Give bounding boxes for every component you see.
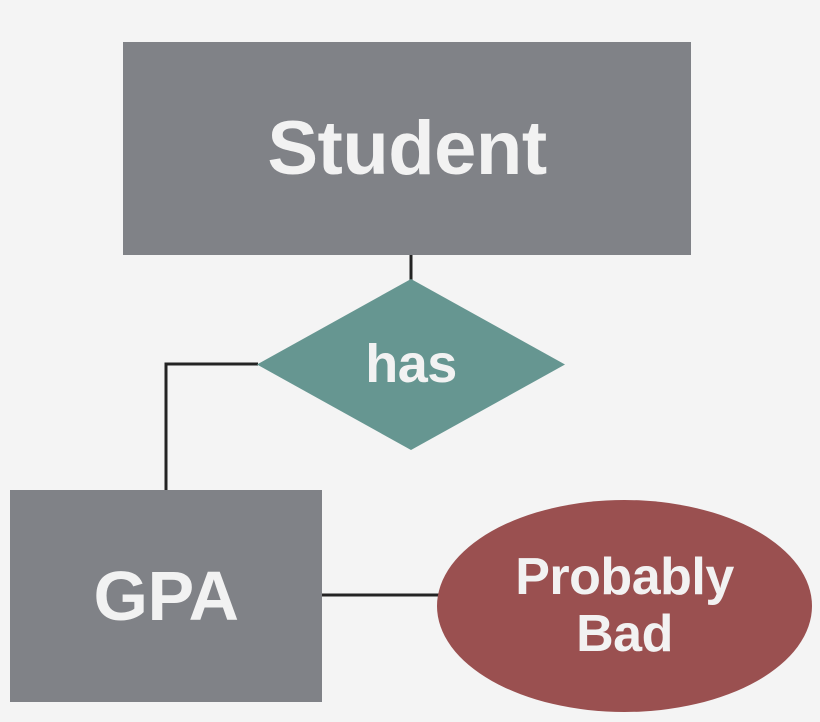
er-diagram-canvas: Student has GPA Probably Bad xyxy=(0,0,820,722)
relationship-has-shape[interactable] xyxy=(257,279,565,450)
shape-layer xyxy=(10,42,812,712)
entity-gpa-shape[interactable] xyxy=(10,490,322,702)
er-diagram-svg xyxy=(0,0,820,722)
entity-student-shape[interactable] xyxy=(123,42,691,255)
connector-has-to-gpa xyxy=(166,364,258,492)
note-probably-bad-shape[interactable] xyxy=(437,500,812,712)
